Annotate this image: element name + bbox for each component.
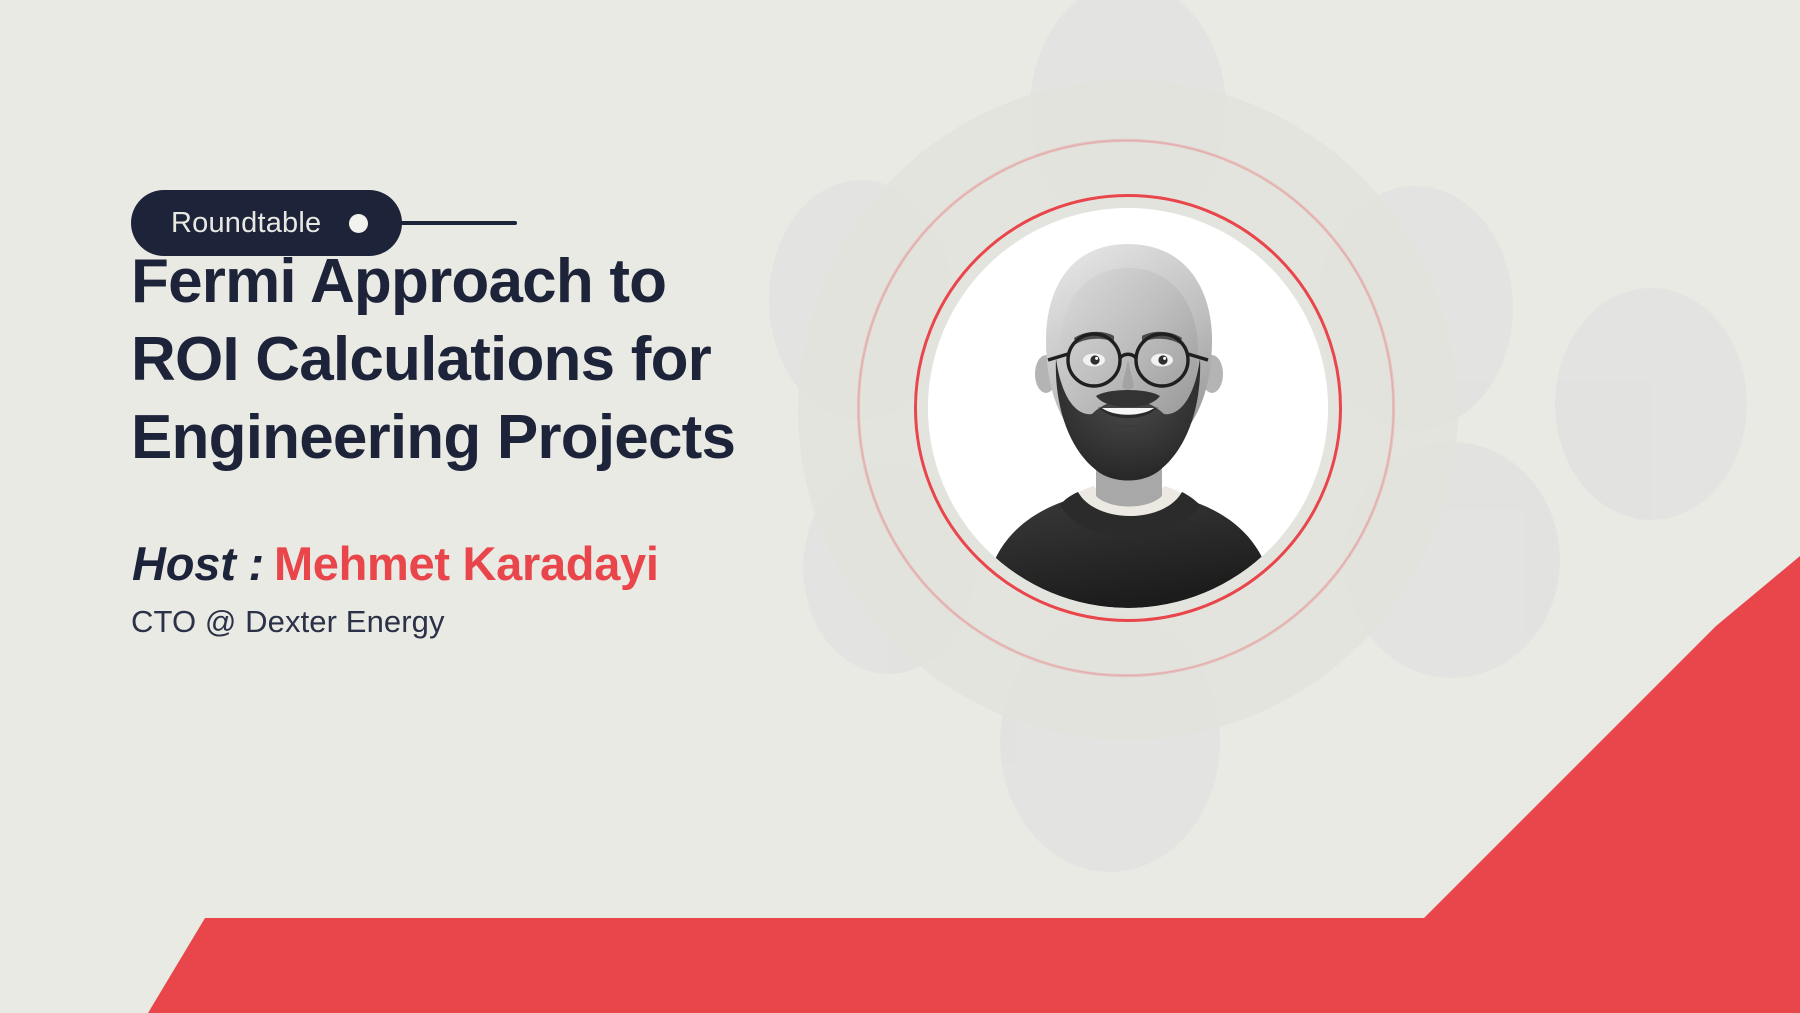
badge-label: Roundtable — [171, 209, 321, 238]
promo-banner: Roundtable Fermi Approach to ROI Calcula… — [0, 0, 1800, 1013]
host-role: CTO @ Dexter Energy — [131, 604, 445, 640]
headline-line-1: Fermi Approach to — [131, 243, 831, 321]
headline-line-3: Engineering Projects — [131, 399, 831, 477]
badge-dot-icon — [349, 214, 368, 233]
host-label: Host : — [132, 537, 264, 590]
speaker-portrait — [858, 140, 1398, 680]
host-line: Host :Mehmet Karadayi — [132, 537, 659, 591]
portrait-outer-faint-ring — [858, 140, 1394, 676]
headline-line-2: ROI Calculations for — [131, 321, 831, 399]
decor-blob — [1555, 288, 1747, 520]
page-title: Fermi Approach to ROI Calculations for E… — [131, 243, 831, 477]
host-name: Mehmet Karadayi — [274, 537, 659, 590]
